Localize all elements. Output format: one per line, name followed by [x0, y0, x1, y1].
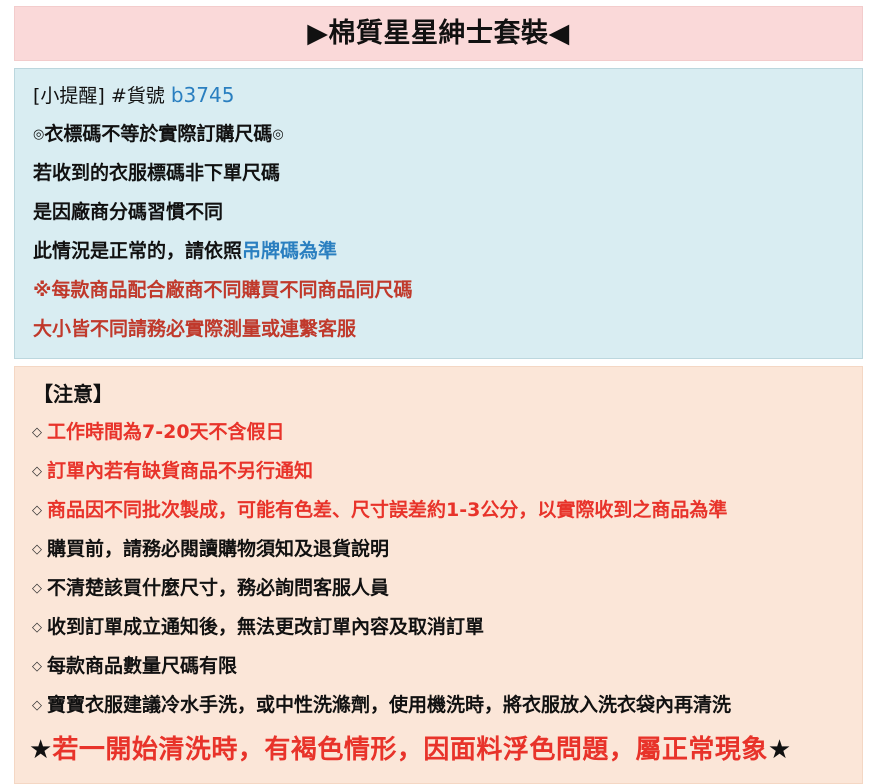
list-item: ◇ 每款商品數量尺碼有限: [15, 647, 862, 686]
notice-item-text: 購買前，請務必閱讀購物須知及退貨說明: [47, 539, 389, 560]
notice-item-text: 工作時間為7-20天不含假日: [47, 422, 285, 443]
size-reminder-box: [小提醒] #貨號 b3745 ◎衣標碼不等於實際訂購尺碼◎ 若收到的衣服標碼非…: [14, 68, 863, 359]
star-right-icon: ★: [768, 737, 791, 763]
diamond-bullet-icon: ◇: [32, 543, 42, 556]
circle-symbol-left-icon: ◎: [33, 127, 44, 142]
diamond-bullet-icon: ◇: [32, 465, 42, 478]
fading-warning-text: 若一開始清洗時，有褐色情形，因面料浮色問題，屬正常現象: [52, 737, 768, 763]
page-title: ▶棉質星星紳士套裝◀: [307, 20, 570, 47]
notice-item-text: 每款商品數量尺碼有限: [47, 656, 237, 677]
product-code-value: b3745: [171, 83, 235, 107]
list-item: ◇ 寶寶衣服建議冷水手洗，或中性洗滌劑，使用機洗時，將衣服放入洗衣袋內再清洗: [15, 686, 862, 725]
reminder-line-6: ※每款商品配合廠商不同購買不同商品同尺碼: [15, 271, 862, 310]
reminder-line-5-black: 此情況是正常的，請依照: [33, 240, 242, 262]
reminder-line-2: ◎衣標碼不等於實際訂購尺碼◎: [15, 115, 862, 154]
reminder-line-7: 大小皆不同請務必實際測量或連繫客服: [15, 310, 862, 349]
list-item: ◇ 商品因不同批次製成，可能有色差、尺寸誤差約1-3公分，以實際收到之商品為準: [15, 491, 862, 530]
diamond-bullet-icon: ◇: [32, 582, 42, 595]
diamond-bullet-icon: ◇: [32, 621, 42, 634]
diamond-bullet-icon: ◇: [32, 504, 42, 517]
list-item: ◇ 工作時間為7-20天不含假日: [15, 413, 862, 452]
reminder-line-4: 是因廠商分碼習慣不同: [15, 193, 862, 232]
reminder-product-code-line: [小提醒] #貨號 b3745: [15, 76, 862, 115]
notice-item-text: 不清楚該買什麼尺寸，務必詢問客服人員: [47, 578, 389, 599]
list-item: ◇ 訂單內若有缺貨商品不另行通知: [15, 452, 862, 491]
reminder-line-5: 此情況是正常的，請依照吊牌碼為準: [15, 232, 862, 271]
product-info-page: ▶棉質星星紳士套裝◀ [小提醒] #貨號 b3745 ◎衣標碼不等於實際訂購尺碼…: [0, 0, 877, 757]
title-left-arrow-icon: ▶: [307, 18, 328, 49]
fading-warning-row: ★ 若一開始清洗時，有褐色情形，因面料浮色問題，屬正常現象 ★: [15, 727, 862, 773]
product-title-banner: ▶棉質星星紳士套裝◀: [14, 6, 863, 61]
reminder-line-3: 若收到的衣服標碼非下單尺碼: [15, 154, 862, 193]
title-right-arrow-icon: ◀: [549, 18, 570, 49]
star-left-icon: ★: [29, 737, 52, 763]
reminder-line-2-text: 衣標碼不等於實際訂購尺碼: [44, 123, 272, 145]
diamond-bullet-icon: ◇: [32, 699, 42, 712]
list-item: ◇ 不清楚該買什麼尺寸，務必詢問客服人員: [15, 569, 862, 608]
diamond-bullet-icon: ◇: [32, 660, 42, 673]
notice-item-text: 收到訂單成立通知後，無法更改訂單內容及取消訂單: [47, 617, 484, 638]
title-label: 棉質星星紳士套裝: [329, 18, 549, 49]
reminder-line-5-highlight: 吊牌碼為準: [242, 240, 337, 262]
notice-item-text: 訂單內若有缺貨商品不另行通知: [47, 461, 313, 482]
notice-box: 【注意】 ◇ 工作時間為7-20天不含假日 ◇ 訂單內若有缺貨商品不另行通知 ◇…: [14, 366, 863, 784]
notice-heading: 【注意】: [15, 375, 862, 413]
circle-symbol-right-icon: ◎: [272, 127, 283, 142]
list-item: ◇ 收到訂單成立通知後，無法更改訂單內容及取消訂單: [15, 608, 862, 647]
list-item: ◇ 購買前，請務必閱讀購物須知及退貨說明: [15, 530, 862, 569]
diamond-bullet-icon: ◇: [32, 426, 42, 439]
notice-item-text: 寶寶衣服建議冷水手洗，或中性洗滌劑，使用機洗時，將衣服放入洗衣袋內再清洗: [47, 695, 731, 716]
notice-item-text: 商品因不同批次製成，可能有色差、尺寸誤差約1-3公分，以實際收到之商品為準: [47, 500, 727, 521]
reminder-label: [小提醒] #貨號: [33, 85, 165, 107]
